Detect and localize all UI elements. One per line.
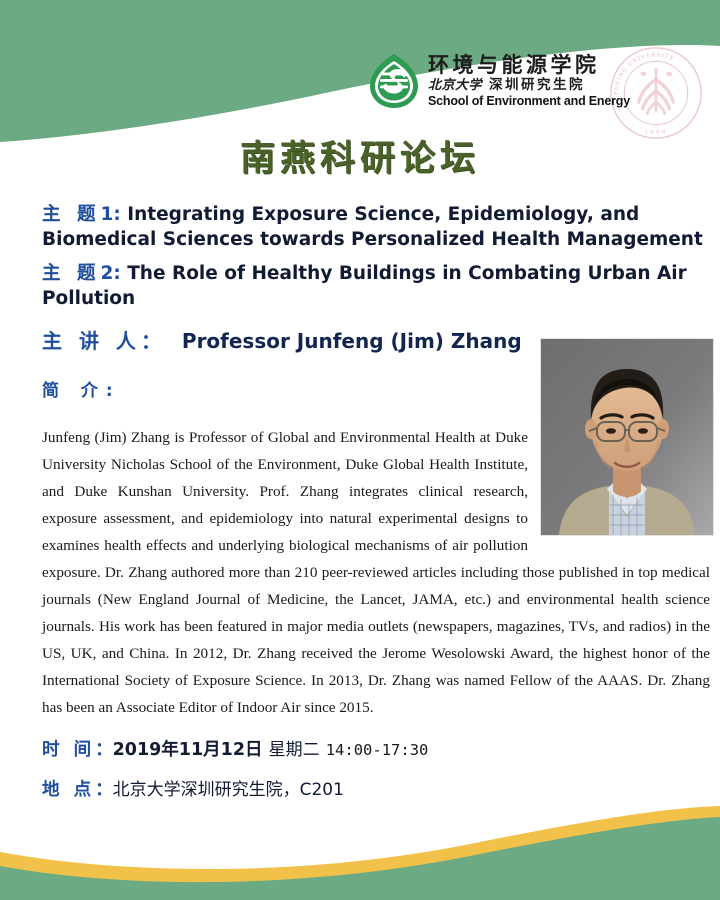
topic-2-colon: :	[113, 263, 120, 284]
speaker-colon: ：	[141, 329, 161, 353]
school-logo: 环境与能源学院 北京大学 深圳研究生院 School of Environmen…	[368, 52, 630, 110]
topic-1-text: Integrating Exposure Science, Epidemiolo…	[42, 204, 703, 250]
footer-gold-band	[0, 806, 720, 900]
photo-text-wrap-spacer	[528, 424, 710, 542]
place-label: 地 点	[42, 780, 95, 800]
logo-chinese-campus: 深圳研究生院	[489, 79, 585, 93]
poster-root: PEKING UNIVERSITY 1898 环境与能源学院 北京大学 深圳研究…	[0, 0, 720, 900]
footer-green-band	[0, 817, 720, 900]
logo-chinese-university: 北京大学	[428, 79, 482, 92]
speaker-name: Professor Junfeng (Jim) Zhang	[182, 329, 522, 353]
leaf-logo-icon	[368, 52, 420, 110]
topic-row-2: 主 题2: The Role of Healthy Buildings in C…	[42, 262, 710, 311]
logo-chinese-main: 环境与能源学院	[428, 55, 630, 76]
topic-row-1: 主 题1: Integrating Exposure Science, Epid…	[42, 203, 710, 252]
logo-english: School of Environment and Energy	[428, 95, 630, 108]
topic-2-number: 2	[100, 263, 113, 284]
time-range: 14:00-17:30	[326, 741, 429, 759]
topic-1-colon: :	[113, 204, 120, 225]
bio-paragraph: Junfeng (Jim) Zhang is Professor of Glob…	[42, 424, 710, 721]
place-colon: ：	[95, 780, 113, 800]
bio-label: 简 介	[42, 381, 106, 401]
time-row: 时 间：2019年11月12日 星期二 14:00-17:30	[42, 735, 710, 761]
time-colon: ：	[95, 740, 113, 760]
speaker-label: 主 讲 人	[42, 329, 141, 353]
time-weekday: 星期二	[269, 740, 320, 760]
event-meta: 时 间：2019年11月12日 星期二 14:00-17:30 地 点：北京大学…	[42, 735, 710, 815]
place-row: 地 点：北京大学深圳研究生院，C201	[42, 775, 710, 801]
forum-title: 南燕科研论坛	[0, 130, 720, 181]
bio-colon: :	[106, 381, 113, 401]
time-label: 时 间	[42, 740, 95, 760]
topic-1-label: 主 题	[42, 204, 100, 225]
topic-1-number: 1	[100, 204, 113, 225]
time-date: 2019年11月12日	[113, 740, 263, 760]
topic-2-text: The Role of Healthy Buildings in Combati…	[42, 263, 687, 309]
place-value: 北京大学深圳研究生院，C201	[113, 780, 344, 800]
topic-2-label: 主 题	[42, 263, 100, 284]
